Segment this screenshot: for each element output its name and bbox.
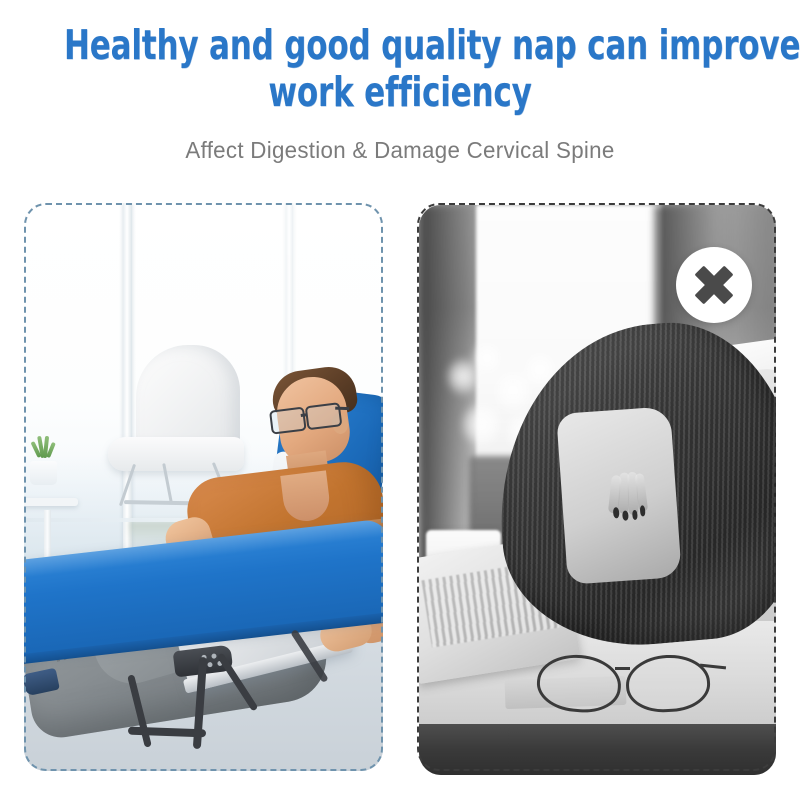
fingernail xyxy=(622,510,628,521)
photo-man-on-folding-cot xyxy=(24,203,383,771)
fingernail xyxy=(631,510,637,521)
eyeglasses-icon xyxy=(533,655,719,706)
bokeh-highlight xyxy=(463,404,500,445)
panel-bad-posture xyxy=(417,203,776,771)
glasses-lens xyxy=(625,653,712,715)
glasses-bridge xyxy=(615,667,630,670)
product-infographic-page: Healthy and good quality nap can improve… xyxy=(0,0,800,800)
plant-pot xyxy=(30,461,57,485)
bokeh-highlight xyxy=(474,343,500,373)
hand xyxy=(556,406,682,585)
glasses-lens xyxy=(535,652,624,716)
page-subtitle: Affect Digestion & Damage Cervical Spine xyxy=(12,137,788,164)
page-title-line-1: Healthy and good quality nap can improve xyxy=(64,22,736,69)
header: Healthy and good quality nap can improve… xyxy=(0,22,800,164)
side-table xyxy=(24,498,78,506)
fingernail xyxy=(639,506,645,517)
scene-living-room xyxy=(24,203,383,771)
bokeh-highlight xyxy=(448,359,478,394)
plant-icon xyxy=(32,430,56,458)
page-title: Healthy and good quality nap can improve… xyxy=(64,22,736,116)
desk-front-edge xyxy=(419,724,776,775)
panel-good-posture xyxy=(24,203,383,771)
x-cross-icon xyxy=(676,247,752,323)
x-cross-badge xyxy=(676,247,752,323)
fingernail xyxy=(613,508,619,519)
page-title-line-2: work efficiency xyxy=(64,69,736,116)
glasses-lens xyxy=(269,407,307,435)
bokeh-highlight xyxy=(496,372,529,410)
